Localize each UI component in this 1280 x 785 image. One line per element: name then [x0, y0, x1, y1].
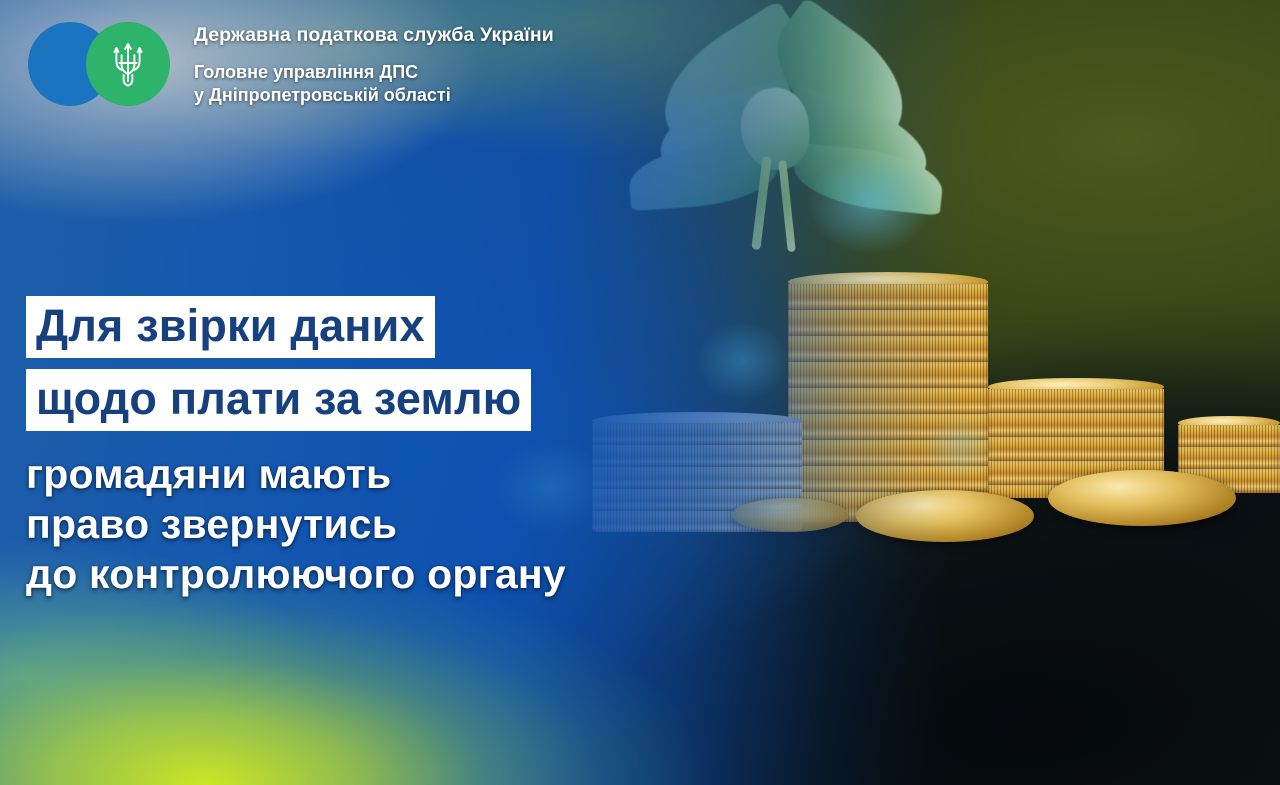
header-text-block: Державна податкова служба України Головн… [194, 18, 554, 108]
headline-line-2: щодо плати за землю [26, 369, 531, 431]
org-subtitle: Головне управління ДПС у Дніпропетровськ… [194, 61, 554, 108]
headline-line-3: громадяни мають [26, 449, 566, 499]
headline-line-5: до контролюючого органу [26, 549, 566, 599]
dps-logo[interactable] [24, 18, 176, 110]
headline: Для звірки даних щодо плати за землю гро… [26, 296, 566, 599]
tryzub-icon [110, 41, 146, 87]
banner: Державна податкова служба України Головн… [0, 0, 1280, 785]
org-subtitle-line1: Головне управління ДПС [194, 62, 418, 82]
headline-line-4: право звернутись [26, 499, 566, 549]
logo-green-circle [86, 22, 170, 106]
org-subtitle-line2: у Дніпропетровській області [194, 85, 451, 105]
header: Державна податкова служба України Головн… [24, 18, 554, 110]
headline-line-1: Для звірки даних [26, 296, 435, 358]
org-title: Державна податкова служба України [194, 24, 554, 47]
